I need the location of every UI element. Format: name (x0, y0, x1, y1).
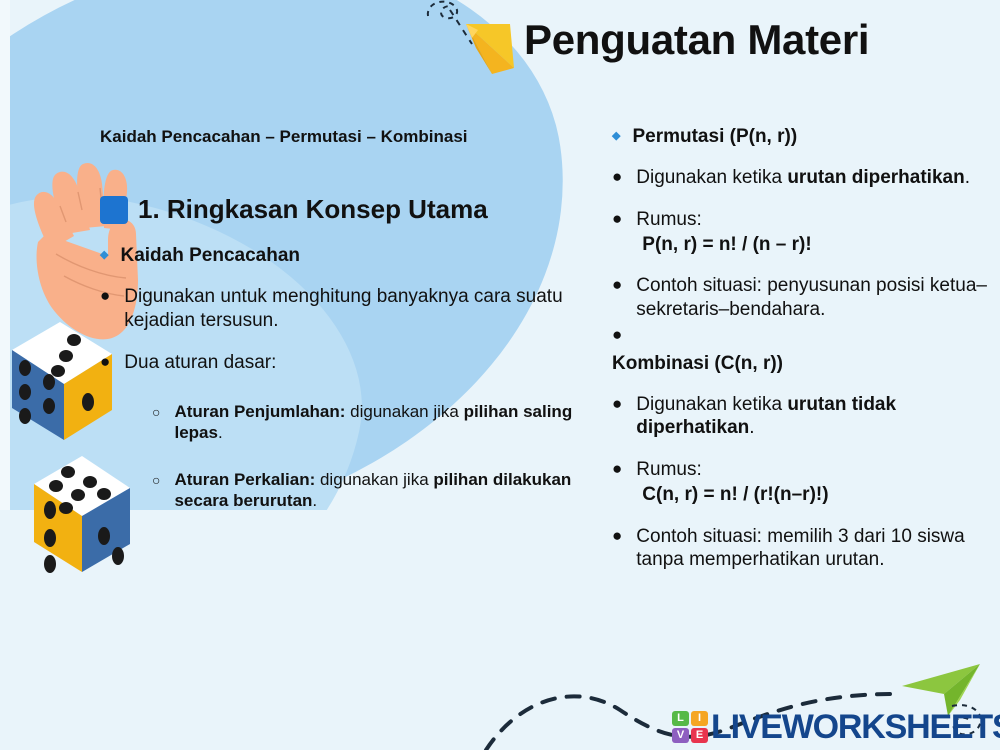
logo-tile-v: V (672, 728, 689, 743)
sub-heading-kombinasi: Kombinasi (C(n, r)) (612, 353, 1000, 375)
list-item-prefix: Digunakan ketika (636, 167, 787, 188)
list-item-prefix: Digunakan ketika (636, 394, 787, 415)
bullet-dot-icon: ● (612, 208, 622, 231)
section-title-text: 1. Ringkasan Konsep Utama (138, 194, 488, 225)
list-item-suffix: . (749, 417, 754, 438)
list-item: ● Contoh situasi: penyusunan posisi ketu… (612, 274, 1000, 322)
list-item-text: Digunakan ketika urutan diperhatikan. (636, 166, 970, 190)
list-item-tail: . (218, 423, 223, 442)
bullet-dot-icon: ● (612, 458, 622, 481)
formula-kombinasi: C(n, r) = n! / (r!(n–r)!) (636, 483, 828, 507)
list-item-formula: ● Rumus:P(n, r) = n! / (n – r)! (612, 208, 1000, 257)
list-item-text: Digunakan untuk menghitung banyaknya car… (124, 285, 590, 333)
list-item-bold-lead: Aturan Penjumlahan: (174, 402, 345, 421)
hollow-bullet-icon: ○ (152, 401, 160, 423)
nested-list: ○ Aturan Penjumlahan: digunakan jika pil… (152, 401, 590, 512)
formula-label: Rumus: (636, 459, 701, 480)
list-item-empty: ● (612, 324, 1000, 347)
formula-permutasi: P(n, r) = n! / (n – r)! (636, 233, 811, 257)
liveworksheets-logo: L I V E LIVEWORKSHEETS (672, 710, 1000, 744)
logo-wordmark: LIVEWORKSHEETS (711, 710, 1000, 744)
paper-plane-yellow-icon (452, 8, 532, 93)
list-item-mid: digunakan jika (315, 470, 433, 489)
list-item-text: Contoh situasi: memilih 3 dari 10 siswa … (636, 525, 1000, 573)
bullet-dot-icon: ● (612, 393, 622, 416)
list-item-bold: urutan diperhatikan (787, 167, 964, 188)
sub-heading-permutasi: ◆ Permutasi (P(n, r)) (612, 126, 1000, 148)
page-title: Penguatan Materi (524, 16, 869, 64)
bullet-dot-icon: ● (100, 285, 110, 308)
list-item: ● Contoh situasi: memilih 3 dari 10 sisw… (612, 525, 1000, 573)
slide-canvas: Penguatan Materi Kaidah Pencacahan – Per… (0, 0, 1000, 750)
bullet-dot-icon: ● (612, 525, 622, 548)
list-item-text: Rumus:C(n, r) = n! / (r!(n–r)!) (636, 458, 828, 507)
list-item: ● Dua aturan dasar: (100, 351, 590, 375)
sub-heading-kaidah-pencacahan: ◆ Kaidah Pencacahan (100, 245, 590, 267)
list-item-text: Rumus:P(n, r) = n! / (n – r)! (636, 208, 811, 257)
sub-heading-text: Permutasi (P(n, r)) (632, 126, 797, 148)
bullet-dot-icon: ● (612, 166, 622, 189)
right-content-column: ◆ Permutasi (P(n, r)) ● Digunakan ketika… (612, 126, 1000, 572)
blue-square-icon (100, 196, 128, 224)
logo-tile-l: L (672, 711, 689, 726)
list-item-text: Aturan Penjumlahan: digunakan jika pilih… (174, 401, 590, 444)
hollow-bullet-icon: ○ (152, 469, 160, 491)
bullet-dot-icon: ● (612, 324, 622, 347)
list-item: ● Digunakan ketika urutan diperhatikan. (612, 166, 1000, 190)
list-item-bold-lead: Aturan Perkalian: (174, 470, 315, 489)
diamond-bullet-icon: ◆ (612, 131, 620, 142)
document-heading: Kaidah Pencacahan – Permutasi – Kombinas… (100, 126, 590, 148)
list-item: ○ Aturan Perkalian: digunakan jika pilih… (152, 469, 590, 512)
logo-tile-e: E (691, 728, 708, 743)
list-item-tail: . (312, 491, 317, 510)
list-item: ○ Aturan Penjumlahan: digunakan jika pil… (152, 401, 590, 444)
logo-letter-tiles: L I V E (672, 711, 708, 743)
list-item-formula: ● Rumus:C(n, r) = n! / (r!(n–r)!) (612, 458, 1000, 507)
left-content-column: Kaidah Pencacahan – Permutasi – Kombinas… (100, 126, 590, 512)
list-item: ● Digunakan ketika urutan tidak diperhat… (612, 393, 1000, 441)
logo-tile-i: I (691, 711, 708, 726)
list-item-text: Dua aturan dasar: (124, 351, 276, 375)
bullet-dot-icon: ● (612, 274, 622, 297)
bullet-dot-icon: ● (100, 351, 110, 374)
formula-label: Rumus: (636, 209, 701, 230)
sub-heading-text: Kaidah Pencacahan (120, 245, 300, 267)
list-item-text: Contoh situasi: penyusunan posisi ketua–… (636, 274, 1000, 322)
list-item-suffix: . (965, 167, 970, 188)
list-item-text: Digunakan ketika urutan tidak diperhatik… (636, 393, 1000, 441)
list-item-text: Aturan Perkalian: digunakan jika pilihan… (174, 469, 590, 512)
section-title-row: 1. Ringkasan Konsep Utama (100, 194, 590, 225)
list-item: ● Digunakan untuk menghitung banyaknya c… (100, 285, 590, 333)
diamond-bullet-icon: ◆ (100, 250, 108, 261)
list-item-mid: digunakan jika (345, 402, 463, 421)
